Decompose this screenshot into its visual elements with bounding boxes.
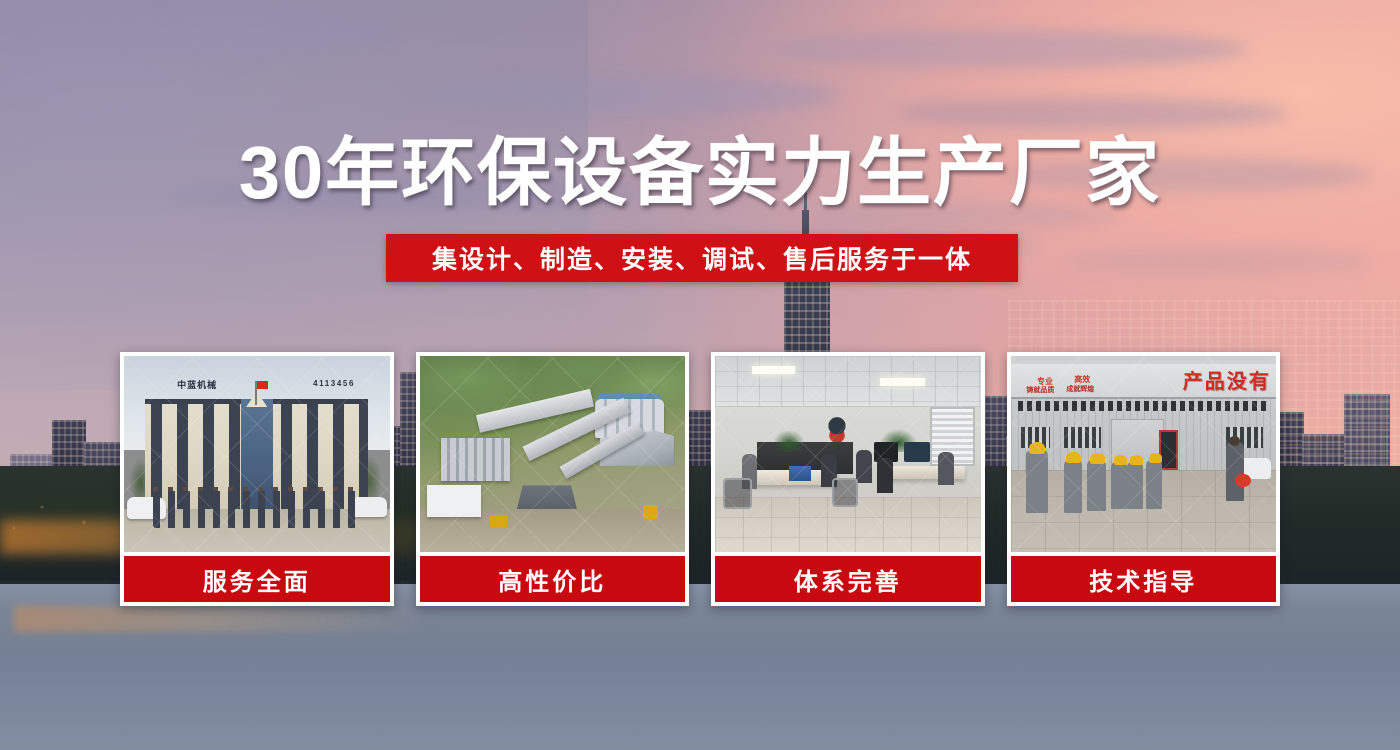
feature-card-service[interactable]: 中蓝机械 4113456 服务全面 xyxy=(120,352,394,606)
card-photo-office-interior xyxy=(715,356,981,552)
feature-card-technical-guidance[interactable]: 产品没有 专业 高效 铸就品质 成就辉煌 xyxy=(1007,352,1281,606)
feature-card-row: 中蓝机械 4113456 服务全面 xyxy=(120,352,1280,606)
water-reflection xyxy=(14,606,434,632)
card-label-text: 服务全面 xyxy=(203,562,311,597)
card-label-text: 体系完善 xyxy=(794,562,902,597)
feature-card-system[interactable]: 体系完善 xyxy=(711,352,985,606)
cloud xyxy=(896,98,1288,129)
card-label-bar: 技术指导 xyxy=(1011,556,1277,602)
cloud xyxy=(770,30,1246,68)
cloud xyxy=(420,75,840,116)
subtitle-bar: 集设计、制造、安装、调试、售后服务于一体 xyxy=(386,234,1018,282)
card-label-bar: 高性价比 xyxy=(420,556,686,602)
building-sign-text: 中蓝机械 xyxy=(177,378,217,391)
card-label-text: 高性价比 xyxy=(498,562,606,597)
cloud xyxy=(28,15,392,49)
card-label-bar: 服务全面 xyxy=(124,556,390,602)
factory-slogan-4: 成就辉煌 xyxy=(1066,384,1094,394)
factory-wall-text: 产品没有 xyxy=(1183,365,1271,394)
feature-card-value[interactable]: 高性价比 xyxy=(416,352,690,606)
card-photo-industrial-plant xyxy=(420,356,686,552)
building-phone-text: 4113456 xyxy=(313,379,355,388)
card-photo-workers-factory: 产品没有 专业 高效 铸就品质 成就辉煌 xyxy=(1011,356,1277,552)
card-label-text: 技术指导 xyxy=(1089,562,1197,597)
factory-slogan-3: 铸就品质 xyxy=(1026,385,1054,395)
factory-slogan-2: 高效 xyxy=(1074,374,1090,385)
page-title: 30年环保设备实力生产厂家 xyxy=(0,136,1400,210)
subtitle-text: 集设计、制造、安装、调试、售后服务于一体 xyxy=(432,240,972,276)
wall-logo-icon xyxy=(816,415,858,442)
card-photo-office-building: 中蓝机械 4113456 xyxy=(124,356,390,552)
promo-banner: 30年环保设备实力生产厂家 集设计、制造、安装、调试、售后服务于一体 中蓝机械 … xyxy=(0,0,1400,750)
card-label-bar: 体系完善 xyxy=(715,556,981,602)
